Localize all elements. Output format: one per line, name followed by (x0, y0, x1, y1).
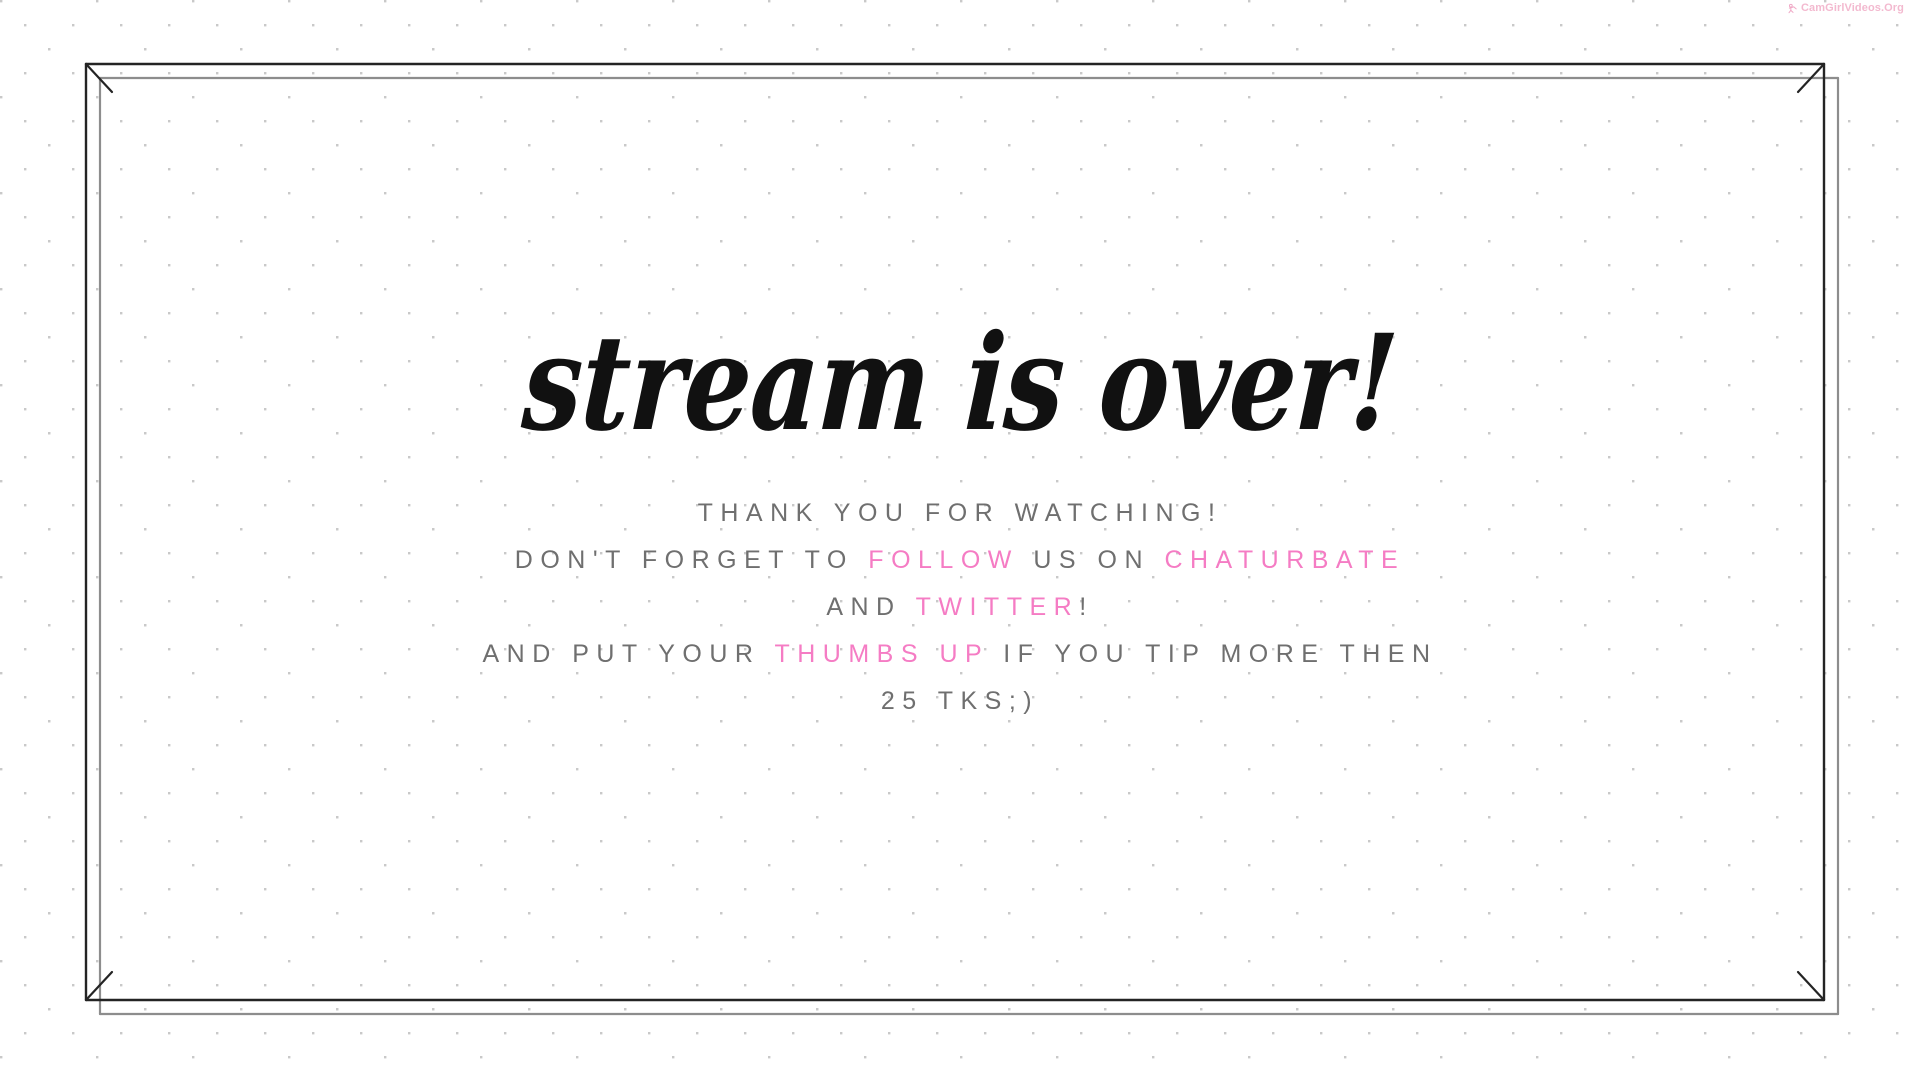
text-segment: Thank you for watching! (698, 499, 1223, 527)
text-segment: and put your (482, 640, 774, 668)
camgirl-figure-logo-icon (1787, 3, 1798, 14)
card-content: stream is over! Thank you for watching! … (0, 0, 1920, 1080)
highlighted-term[interactable]: Twitter (916, 593, 1080, 621)
text-segment: and (826, 593, 915, 621)
text-segment: ! (1079, 593, 1093, 621)
line-thumbs-up: and put your thumbs up if you tip more t… (482, 631, 1437, 678)
line-twitter: and Twitter! (482, 584, 1437, 631)
watermark-label: CamGirlVideos.Org (1801, 2, 1904, 14)
page-title: stream is over! (520, 318, 1401, 450)
line-thank-you: Thank you for watching! (482, 490, 1437, 537)
line-tks: 25 tks;) (482, 678, 1437, 725)
text-segment: 25 tks;) (881, 687, 1039, 715)
message-block: Thank you for watching! Don't forget to … (482, 490, 1437, 725)
watermark: CamGirlVideos.Org (1787, 2, 1904, 14)
text-segment: if you tip more then (989, 640, 1438, 668)
highlighted-term[interactable]: Chaturbate (1164, 546, 1405, 574)
text-segment: us on (1019, 546, 1165, 574)
text-segment: Don't forget to (515, 546, 869, 574)
highlighted-term[interactable]: thumbs up (774, 640, 988, 668)
line-follow: Don't forget to follow us on Chaturbate (482, 537, 1437, 584)
highlighted-term[interactable]: follow (868, 546, 1019, 574)
